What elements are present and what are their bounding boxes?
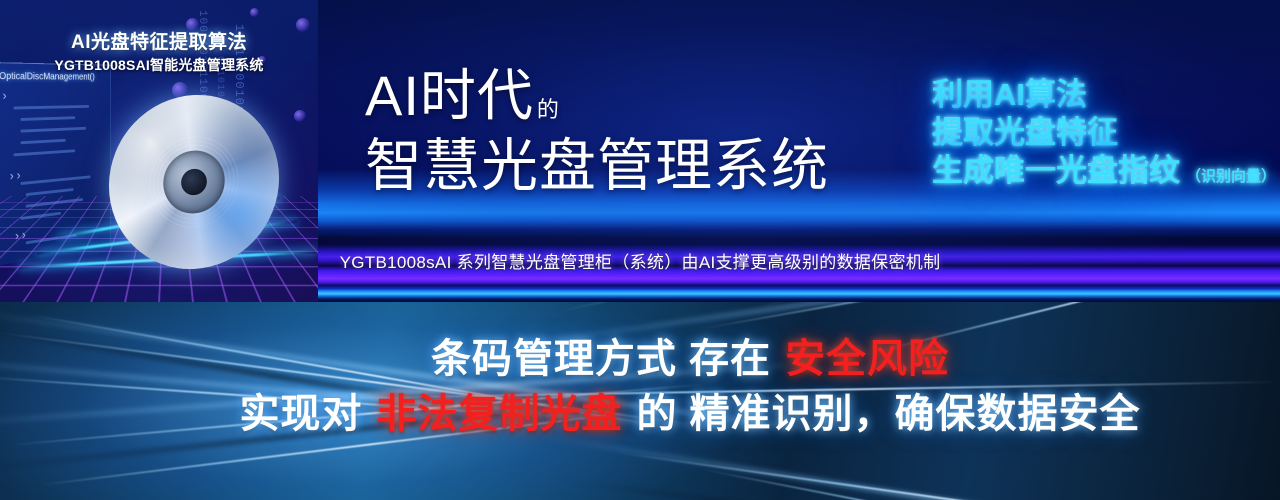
top-section: 10110100101101 01001011010011 1101001011… — [0, 0, 1280, 302]
card-subheadline: YGTB1008SAI智能光盘管理系统 — [0, 55, 318, 75]
promo-banner: 10110100101101 01001011010011 1101001011… — [0, 0, 1280, 500]
headline-line-1: AI时代 的 — [365, 68, 925, 124]
feature-list-item-label: 利用AI算法 — [932, 77, 1087, 112]
feature-list-item: 生成唯一光盘指纹（识别向量） — [932, 152, 1280, 190]
feature-list-item-note: （识别向量） — [1186, 168, 1276, 185]
feature-list: 利用AI算法 提取光盘特征 生成唯一光盘指纹（识别向量） — [932, 76, 1280, 189]
bottom-line1-highlight: 安全风险 — [785, 337, 949, 381]
bottom-line2-highlight: 非法复制光盘 — [376, 392, 622, 436]
bottom-line2-white-text-b: 的 精准识别，确保数据安全 — [636, 392, 1140, 436]
bokeh-dot — [294, 110, 306, 122]
bottom-line1-white-text: 条码管理方式 存在 — [431, 337, 771, 381]
bottom-message-line-1: 条码管理方式 存在安全风险 — [100, 332, 1280, 387]
bottom-message-line-2: 实现对非法复制光盘的 精准识别，确保数据安全 — [100, 387, 1280, 442]
headline-line-1-main: AI时代 — [365, 68, 534, 124]
bottom-message: 条码管理方式 存在安全风险 实现对非法复制光盘的 精准识别，确保数据安全 — [0, 332, 1280, 442]
card-headline: AI光盘特征提取算法 — [0, 27, 318, 54]
bokeh-dot — [250, 8, 259, 17]
feature-list-item-label: 提取光盘特征 — [932, 115, 1118, 150]
headline-line-1-suffix: 的 — [537, 99, 560, 124]
main-headline: AI时代 的 智慧光盘管理系统 — [365, 68, 925, 195]
subtitle-bar-text: YGTB1008sAI 系列智慧光盘管理柜（系统）由AI支撑更高级别的数据保密机… — [0, 248, 1280, 273]
headline-line-2: 智慧光盘管理系统 — [365, 138, 925, 195]
bottom-line2-white-text-a: 实现对 — [239, 392, 362, 436]
feature-list-item-label: 生成唯一光盘指纹 — [932, 153, 1180, 188]
code-brace-icon: › — [1, 89, 8, 104]
bottom-section: 条码管理方式 存在安全风险 实现对非法复制光盘的 精准识别，确保数据安全 — [0, 302, 1280, 500]
feature-list-item: 利用AI算法 — [932, 76, 1280, 114]
feature-list-item: 提取光盘特征 — [932, 114, 1280, 152]
